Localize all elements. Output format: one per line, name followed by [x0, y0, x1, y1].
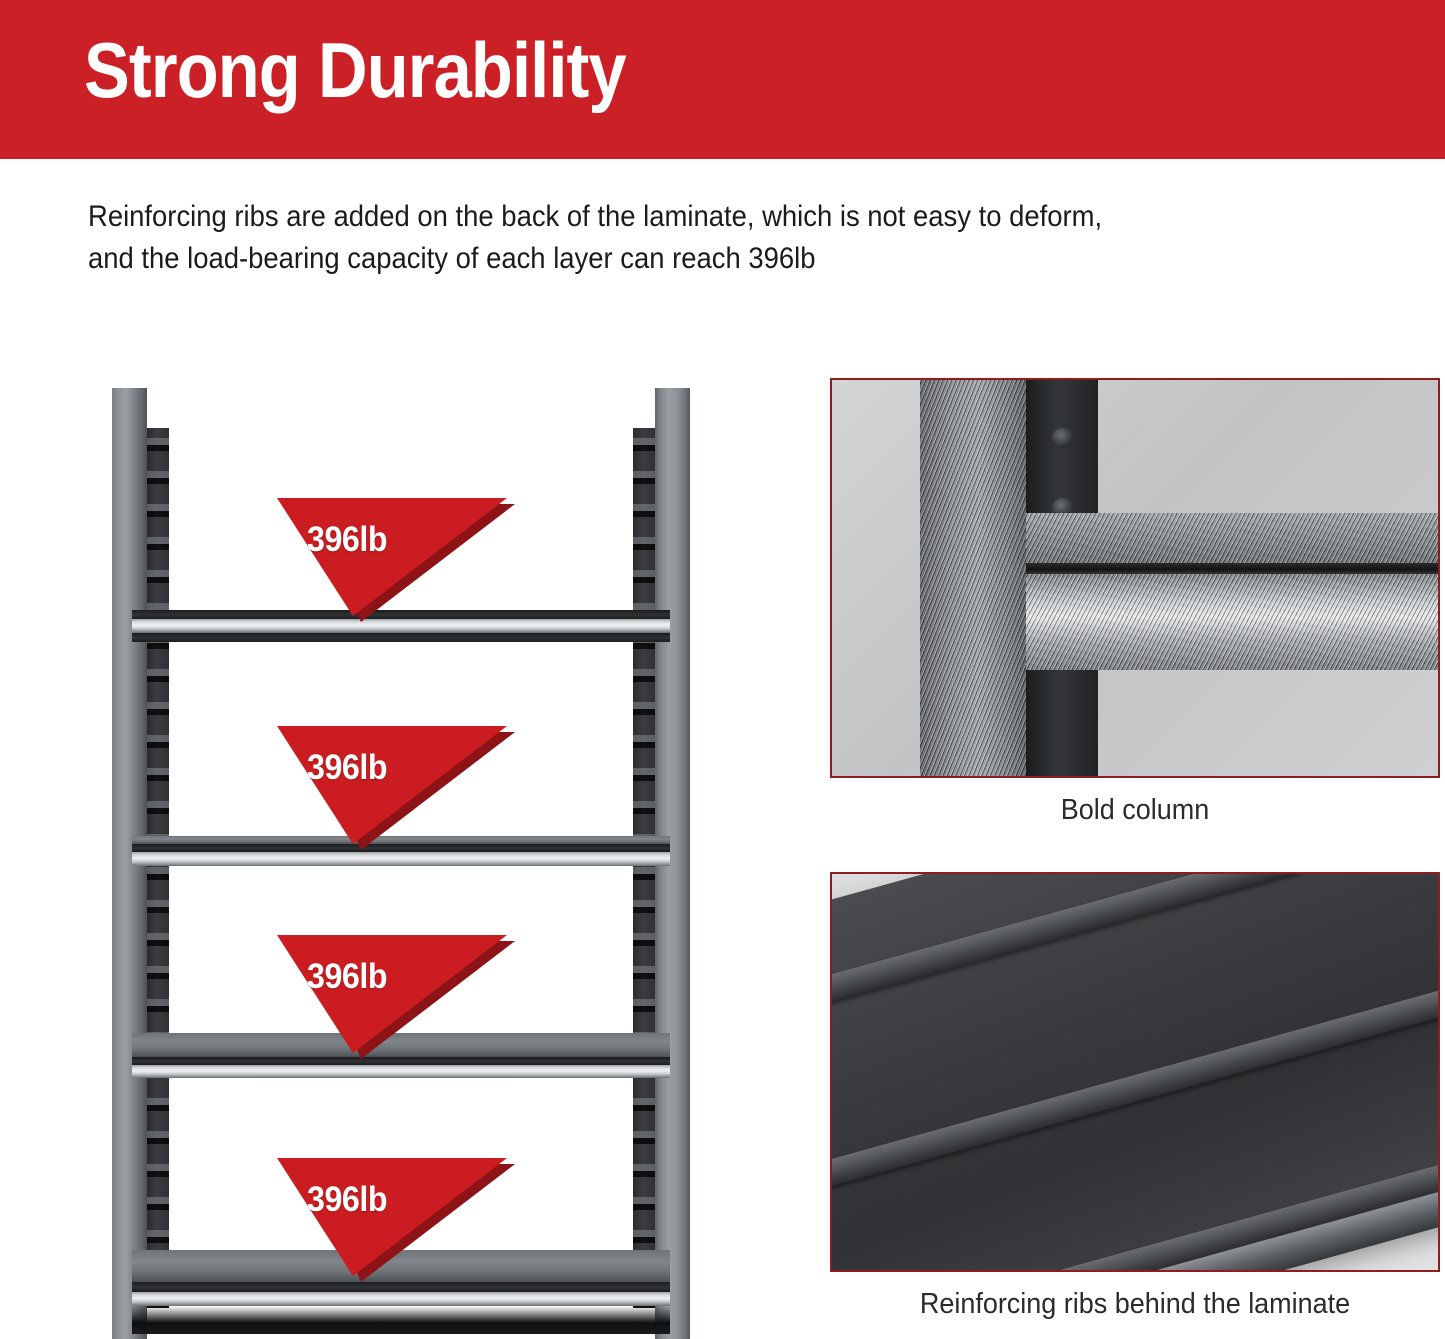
beam-lower-face	[1026, 574, 1438, 670]
beam-upper-face	[1026, 513, 1438, 565]
load-badge-3: 396lb	[277, 935, 507, 1053]
load-badge-4-label: 396lb	[307, 1180, 387, 1220]
load-badge-1-label: 396lb	[307, 520, 387, 560]
description-text: Reinforcing ribs are added on the back o…	[88, 196, 1260, 280]
detail-photo-bold-column-caption: Bold column	[851, 794, 1418, 827]
shelf-rail-right	[633, 428, 655, 1308]
load-badge-4: 396lb	[277, 1158, 507, 1276]
load-badge-2: 396lb	[277, 726, 507, 844]
page-title: Strong Durability	[84, 31, 626, 109]
shelf-top-cap	[132, 400, 670, 452]
header-banner: Strong Durability	[0, 0, 1445, 159]
shelf-rail-left	[147, 428, 169, 1308]
load-badge-2-label: 396lb	[307, 748, 387, 788]
load-badge-1: 396lb	[277, 498, 507, 616]
detail-photo-bold-column	[830, 378, 1440, 778]
column-upright	[920, 380, 1026, 776]
shelving-unit-illustration: 396lb 396lb 396lb 396lb	[112, 388, 690, 1339]
detail-photo-reinforcing-ribs	[830, 872, 1440, 1272]
reinforcing-rib-2	[830, 954, 1440, 1198]
reinforcing-rib-1	[830, 872, 1440, 1027]
detail-photo-reinforcing-ribs-caption: Reinforcing ribs behind the laminate	[851, 1288, 1418, 1321]
description-line-1: Reinforcing ribs are added on the back o…	[88, 196, 1260, 238]
load-badge-3-label: 396lb	[307, 957, 387, 997]
description-line-2: and the load-bearing capacity of each la…	[88, 238, 1260, 280]
laminate-underside	[830, 872, 1440, 1272]
